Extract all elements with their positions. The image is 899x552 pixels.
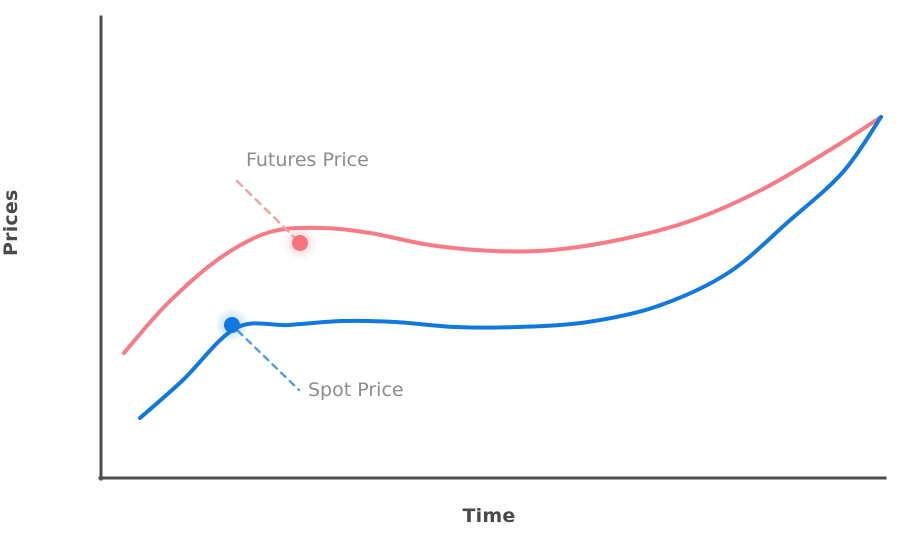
- price-chart: Prices Time Futures Price Spot Price: [0, 0, 899, 552]
- futures-price-annotation-label: Futures Price: [246, 149, 369, 171]
- axis-group: [100, 17, 885, 479]
- spot-price-annotation-label: Spot Price: [308, 379, 404, 401]
- futures-price-marker[interactable]: [292, 235, 308, 251]
- spot-price-marker[interactable]: [224, 317, 240, 333]
- futures-price-leader-line: [237, 181, 296, 239]
- chart-canvas: [0, 0, 899, 552]
- spot-price-leader-line: [238, 331, 299, 390]
- x-axis-title: Time: [399, 505, 579, 527]
- y-axis-title: Prices: [0, 196, 22, 256]
